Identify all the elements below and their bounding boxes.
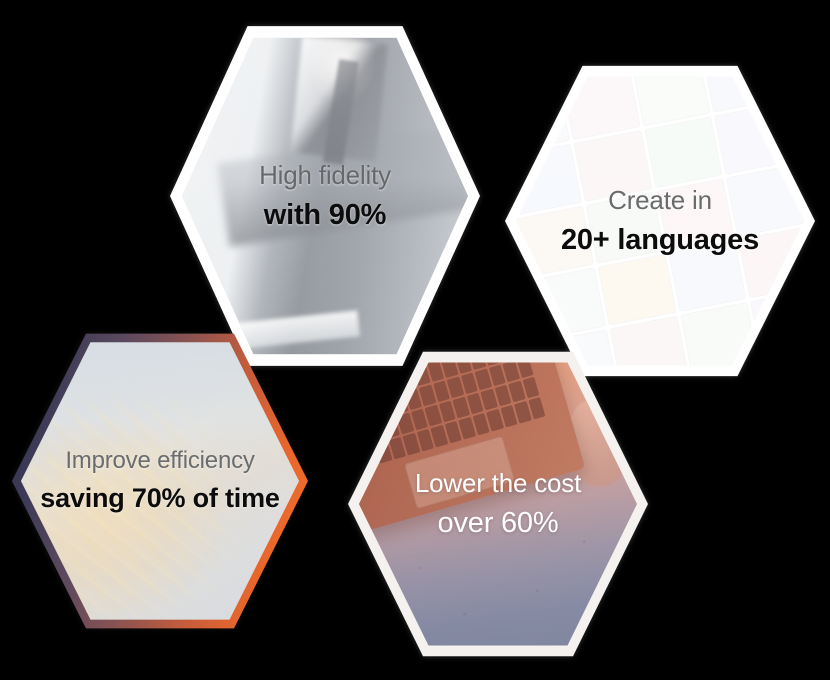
- languages-text-block: Create in 20+ languages: [505, 62, 815, 380]
- create-in-languages-card[interactable]: Create in 20+ languages: [505, 62, 815, 380]
- lower-the-cost-card[interactable]: Lower the cost over 60%: [348, 348, 648, 660]
- cost-line2: over 60%: [438, 506, 559, 540]
- improve-efficiency-card[interactable]: Improve efficiency saving 70% of time: [12, 330, 308, 632]
- high-fidelity-card[interactable]: High fidelity with 90%: [170, 22, 480, 370]
- languages-line2: 20+ languages: [561, 223, 759, 257]
- cost-line1: Lower the cost: [415, 468, 581, 499]
- languages-line1: Create in: [608, 185, 712, 216]
- efficiency-text-block: Improve efficiency saving 70% of time: [12, 330, 308, 632]
- cost-text-block: Lower the cost over 60%: [348, 348, 648, 660]
- high-fidelity-line1: High fidelity: [259, 160, 391, 191]
- high-fidelity-text-block: High fidelity with 90%: [170, 22, 480, 370]
- hexagon-feature-grid: High fidelity with 90% Create in 20+ lan…: [0, 0, 830, 680]
- high-fidelity-line2: with 90%: [264, 198, 387, 232]
- efficiency-line1: Improve efficiency: [65, 447, 254, 475]
- efficiency-line2: saving 70% of time: [40, 483, 279, 515]
